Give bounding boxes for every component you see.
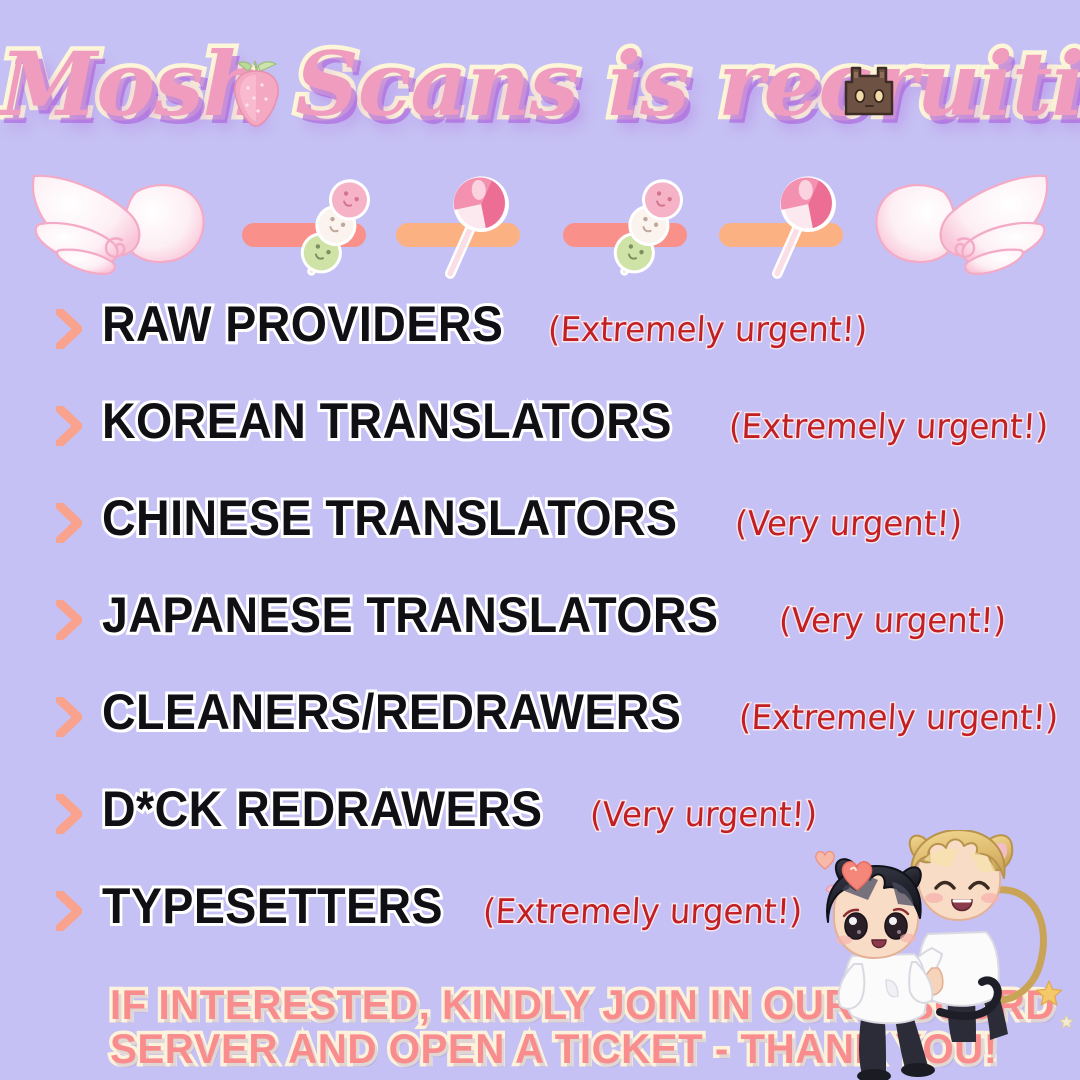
job-role: RAW PROVIDERS (102, 295, 503, 353)
job-role: D*CK REDRAWERS (102, 780, 543, 838)
chevron-right-icon (56, 503, 82, 543)
star-small-icon (1059, 1014, 1074, 1029)
chevron-right-icon (56, 600, 82, 640)
job-role: CLEANERS/REDRAWERS (102, 683, 681, 741)
job-role: TYPESETTERS (102, 877, 443, 935)
job-urgency: (Extremely urgent!) (547, 310, 868, 350)
title-block: Mosh Scans is recruiting! (0, 28, 1080, 158)
list-item: KOREAN TRANSLATORS (Extremely urgent!) (0, 392, 1080, 489)
pixel-cat-head-icon (838, 62, 900, 118)
job-urgency: (Extremely urgent!) (482, 892, 803, 932)
chevron-right-icon (56, 891, 82, 931)
chevron-right-icon (56, 406, 82, 446)
angel-wing-icon (18, 166, 208, 286)
job-urgency: (Very urgent!) (734, 504, 963, 544)
list-item: JAPANESE TRANSLATORS (Very urgent!) (0, 586, 1080, 683)
footer-call-to-action: IF INTERESTED, KINDLY JOIN IN OUR DISCOR… (0, 983, 900, 1072)
list-item: RAW PROVIDERS (Extremely urgent!) (0, 295, 1080, 392)
dango-skewer-icon (288, 170, 380, 288)
job-role: JAPANESE TRANSLATORS (102, 586, 718, 644)
footer-line-1: IF INTERESTED, KINDLY JOIN IN OUR DISCOR… (110, 983, 868, 1028)
lollipop-icon (425, 168, 517, 286)
decorative-divider (0, 160, 1080, 288)
list-item: CLEANERS/REDRAWERS (Extremely urgent!) (0, 683, 1080, 780)
job-urgency: (Extremely urgent!) (728, 407, 1049, 447)
footer-line-2: SERVER AND OPEN A TICKET - THANK YOU! (110, 1027, 868, 1072)
strawberry-icon (226, 58, 288, 128)
job-role: CHINESE TRANSLATORS (102, 489, 677, 547)
list-item: CHINESE TRANSLATORS (Very urgent!) (0, 489, 1080, 586)
lollipop-icon (752, 168, 844, 286)
heart-large-icon (840, 860, 874, 891)
chevron-right-icon (56, 697, 82, 737)
heart-small-icon (814, 850, 836, 870)
angel-wing-icon (872, 166, 1062, 286)
star-large-icon (1036, 980, 1062, 1006)
chevron-right-icon (56, 309, 82, 349)
job-role: KOREAN TRANSLATORS (102, 392, 672, 450)
chevron-right-icon (56, 794, 82, 834)
dango-skewer-icon (601, 170, 693, 288)
recruitment-poster: Mosh Scans is recruiting! (0, 0, 1080, 1080)
job-urgency: (Extremely urgent!) (738, 698, 1059, 738)
job-urgency: (Very urgent!) (589, 795, 818, 835)
page-title: Mosh Scans is recruiting! (0, 34, 1080, 135)
chibi-cat-boys-piggyback-illustration (800, 830, 1080, 1080)
job-urgency: (Very urgent!) (778, 601, 1007, 641)
